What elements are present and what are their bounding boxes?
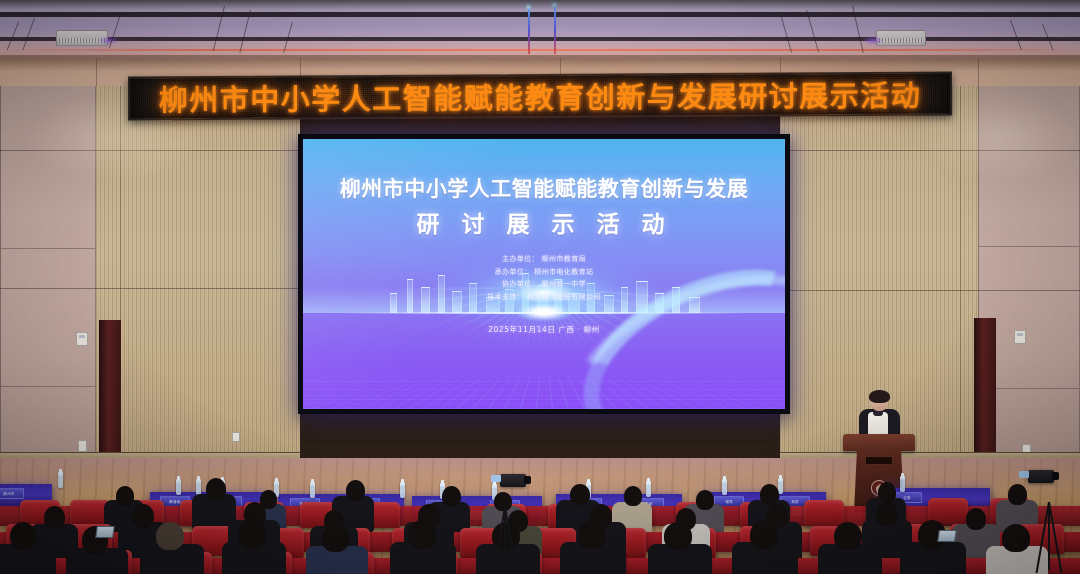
ceiling-beam-1	[0, 12, 1080, 17]
right-side-door[interactable]	[974, 318, 996, 468]
audience-head	[238, 520, 266, 549]
audience-head	[570, 484, 590, 505]
ceiling-wire-7	[780, 14, 792, 53]
left-wall-seam-upper	[0, 150, 300, 151]
screen-title-line1: 柳州市中小学人工智能赋能教育创新与发展	[303, 173, 785, 203]
audience-head	[834, 522, 862, 550]
ac-glow-right	[862, 36, 884, 45]
audience-head	[132, 504, 154, 528]
audience-head	[322, 524, 349, 552]
podium-front-panel	[865, 456, 893, 465]
credit-host: 承办单位： 柳州市电化教育站	[303, 266, 785, 279]
audience-head	[966, 508, 986, 530]
camera-tripod-center	[486, 488, 526, 574]
auditorium-scene: 柳州市中小学人工智能赋能教育创新与发展研讨展示活动	[0, 0, 1080, 574]
speaker-hair	[869, 390, 890, 403]
video-camera-center[interactable]	[500, 474, 526, 487]
ceiling-ac-unit-right	[876, 30, 926, 46]
screen-date-location: 2025年11月14日 广西 · 柳州	[303, 324, 785, 335]
audience-head	[408, 520, 436, 549]
audience-head	[696, 490, 714, 510]
right-wall-vseam	[960, 86, 961, 506]
ceiling-hanging-rod-1	[528, 4, 530, 54]
ac-glow-left	[98, 36, 120, 45]
ceiling-red-light-strip	[0, 49, 1080, 51]
credit-tech-support: 技术支持： 科大讯飞股份有限公司	[303, 291, 785, 304]
audience-head	[206, 478, 226, 500]
audience-head	[442, 486, 461, 507]
video-camera-right[interactable]	[1028, 470, 1054, 483]
led-banner-text: 柳州市中小学人工智能赋能教育创新与发展研讨展示活动	[159, 73, 922, 120]
projection-screen-frame: 柳州市中小学人工智能赋能教育创新与发展 研 讨 展 示 活 动 主办单位： 柳州…	[298, 134, 790, 414]
audience-head	[1002, 524, 1030, 552]
credit-coorganizer: 协办单位： 柳州铁一中学	[303, 278, 785, 291]
screen-title-line2: 研 讨 展 示 活 动	[303, 205, 785, 239]
audience-head	[156, 522, 184, 550]
audience-head	[10, 522, 36, 550]
left-wall-outlet[interactable]	[78, 440, 87, 452]
audience-head	[44, 506, 65, 529]
right-wall-seam-upper	[780, 150, 1080, 151]
audience-head	[750, 520, 778, 549]
left-side-door[interactable]	[99, 320, 121, 472]
ceiling-wire-1	[7, 22, 19, 50]
audience-head	[664, 522, 692, 550]
ceiling-wire-10	[1010, 20, 1022, 50]
audience-head	[624, 486, 642, 506]
audience-head	[578, 520, 606, 549]
audience-area	[0, 470, 1080, 574]
ceiling-wire-2	[22, 18, 35, 50]
credit-organizer: 主办单位： 柳州市教育局	[303, 253, 785, 266]
right-wall-switch-plate[interactable]	[1014, 330, 1026, 344]
audience-head	[760, 484, 779, 505]
screen-credits-block: 主办单位： 柳州市教育局 承办单位： 柳州市电化教育站 协办单位： 柳州铁一中学…	[303, 253, 785, 303]
audience-head	[346, 480, 365, 501]
screen-burst-core	[517, 303, 571, 321]
ceiling-top-shadow	[0, 0, 1080, 10]
audience-head	[1008, 484, 1027, 505]
camera-tripod-right	[1032, 486, 1072, 574]
left-wall-seam-lower	[0, 288, 300, 289]
right-wall-seam-lower	[780, 290, 1080, 291]
audience-head	[878, 482, 896, 503]
led-banner: 柳州市中小学人工智能赋能教育创新与发展研讨展示活动	[128, 71, 952, 120]
audience-laptop-2[interactable]	[937, 530, 957, 542]
left-wall-switch-plate[interactable]	[76, 332, 88, 346]
projection-screen: 柳州市中小学人工智能赋能教育创新与发展 研 讨 展 示 活 动 主办单位： 柳州…	[303, 139, 785, 409]
audience-head	[116, 486, 134, 506]
podium-top	[843, 434, 915, 451]
audience-head	[876, 502, 898, 526]
speaker-person	[855, 392, 903, 440]
seat[interactable]	[804, 500, 844, 526]
audience-laptop[interactable]	[95, 526, 115, 538]
left-wall-outlet-2[interactable]	[232, 432, 240, 442]
